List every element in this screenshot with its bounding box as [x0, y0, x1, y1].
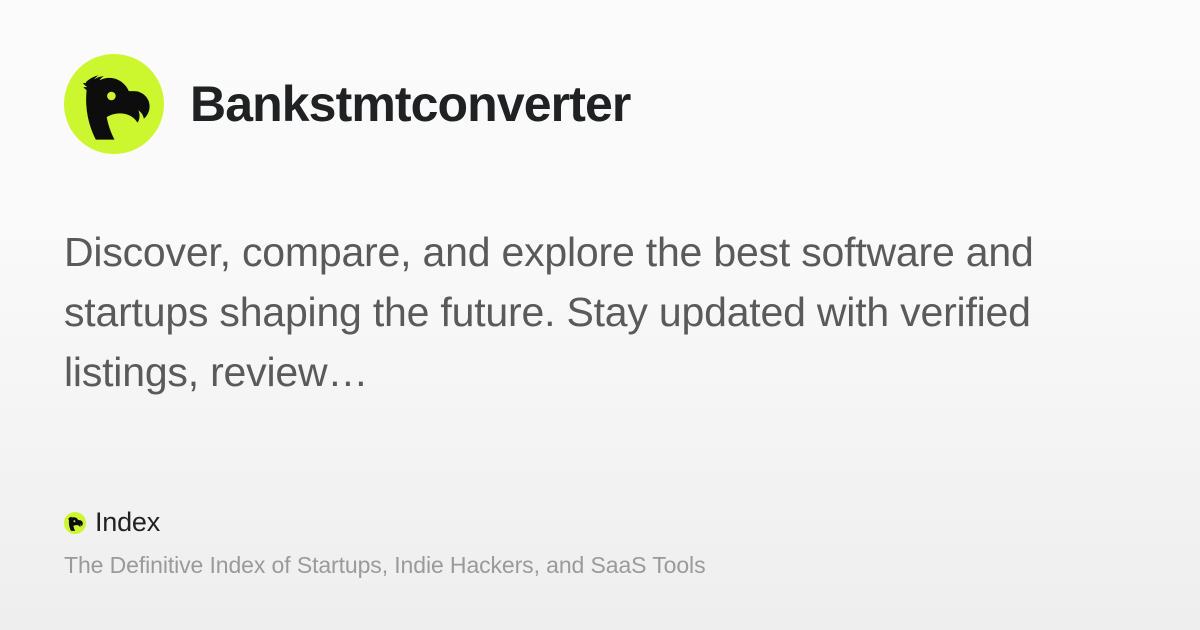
description-block: Discover, compare, and explore the best …	[64, 222, 1104, 402]
brand-header: Bankstmtconverter	[64, 48, 1136, 160]
footer-label: Index	[95, 509, 160, 536]
og-share-card: Bankstmtconverter Discover, compare, and…	[0, 0, 1200, 630]
footer-brand-row: Index	[64, 509, 705, 536]
brand-title: Bankstmtconverter	[190, 79, 630, 129]
footer-block: Index The Definitive Index of Startups, …	[64, 509, 705, 580]
dodo-bird-icon	[64, 512, 86, 534]
footer-tagline: The Definitive Index of Startups, Indie …	[64, 552, 705, 580]
description-text: Discover, compare, and explore the best …	[64, 222, 1104, 402]
dodo-bird-icon	[64, 54, 164, 154]
